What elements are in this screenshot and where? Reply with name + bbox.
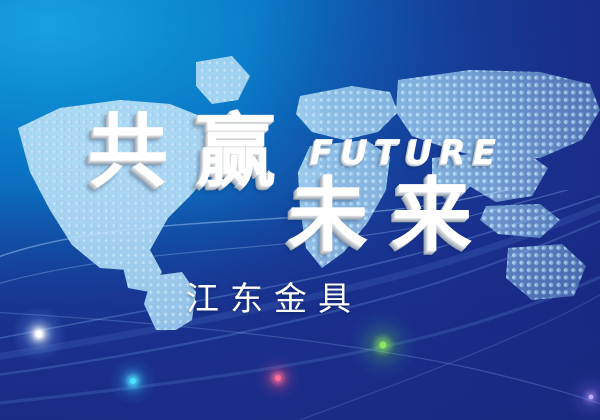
promo-banner: 共 赢 FUTURE 未 来 江东金具 [0,0,600,420]
background-vignette [0,0,600,420]
